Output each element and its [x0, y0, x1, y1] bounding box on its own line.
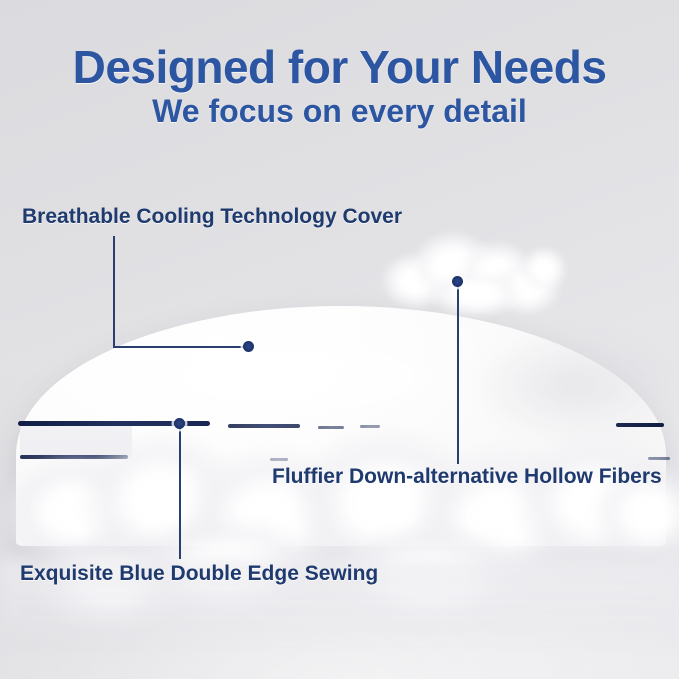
- fiber-puff: [428, 270, 524, 318]
- leader-line-cooling-cover-horizontal: [113, 346, 249, 348]
- callout-dot-blue-sewing: [174, 418, 185, 429]
- callout-dot-hollow-fibers: [452, 276, 463, 287]
- callout-label-breathable-cooling-cover: Breathable Cooling Technology Cover: [22, 205, 402, 229]
- callout-label-hollow-fibers: Fluffier Down-alternative Hollow Fibers: [272, 465, 662, 489]
- leader-line-blue-sewing: [179, 426, 181, 559]
- page-title: Designed for Your Needs: [0, 40, 679, 94]
- page-subtitle: We focus on every detail: [0, 93, 679, 130]
- fiber-cloud: [372, 226, 572, 322]
- callout-dot-cooling-cover: [243, 341, 254, 352]
- fiber-puff: [520, 246, 568, 292]
- product-infographic: Designed for Your Needs We focus on ever…: [0, 0, 679, 679]
- leader-line-hollow-fibers: [457, 283, 459, 464]
- callout-label-blue-double-edge-sewing: Exquisite Blue Double Edge Sewing: [20, 562, 378, 586]
- leader-line-cooling-cover-vertical: [113, 236, 115, 348]
